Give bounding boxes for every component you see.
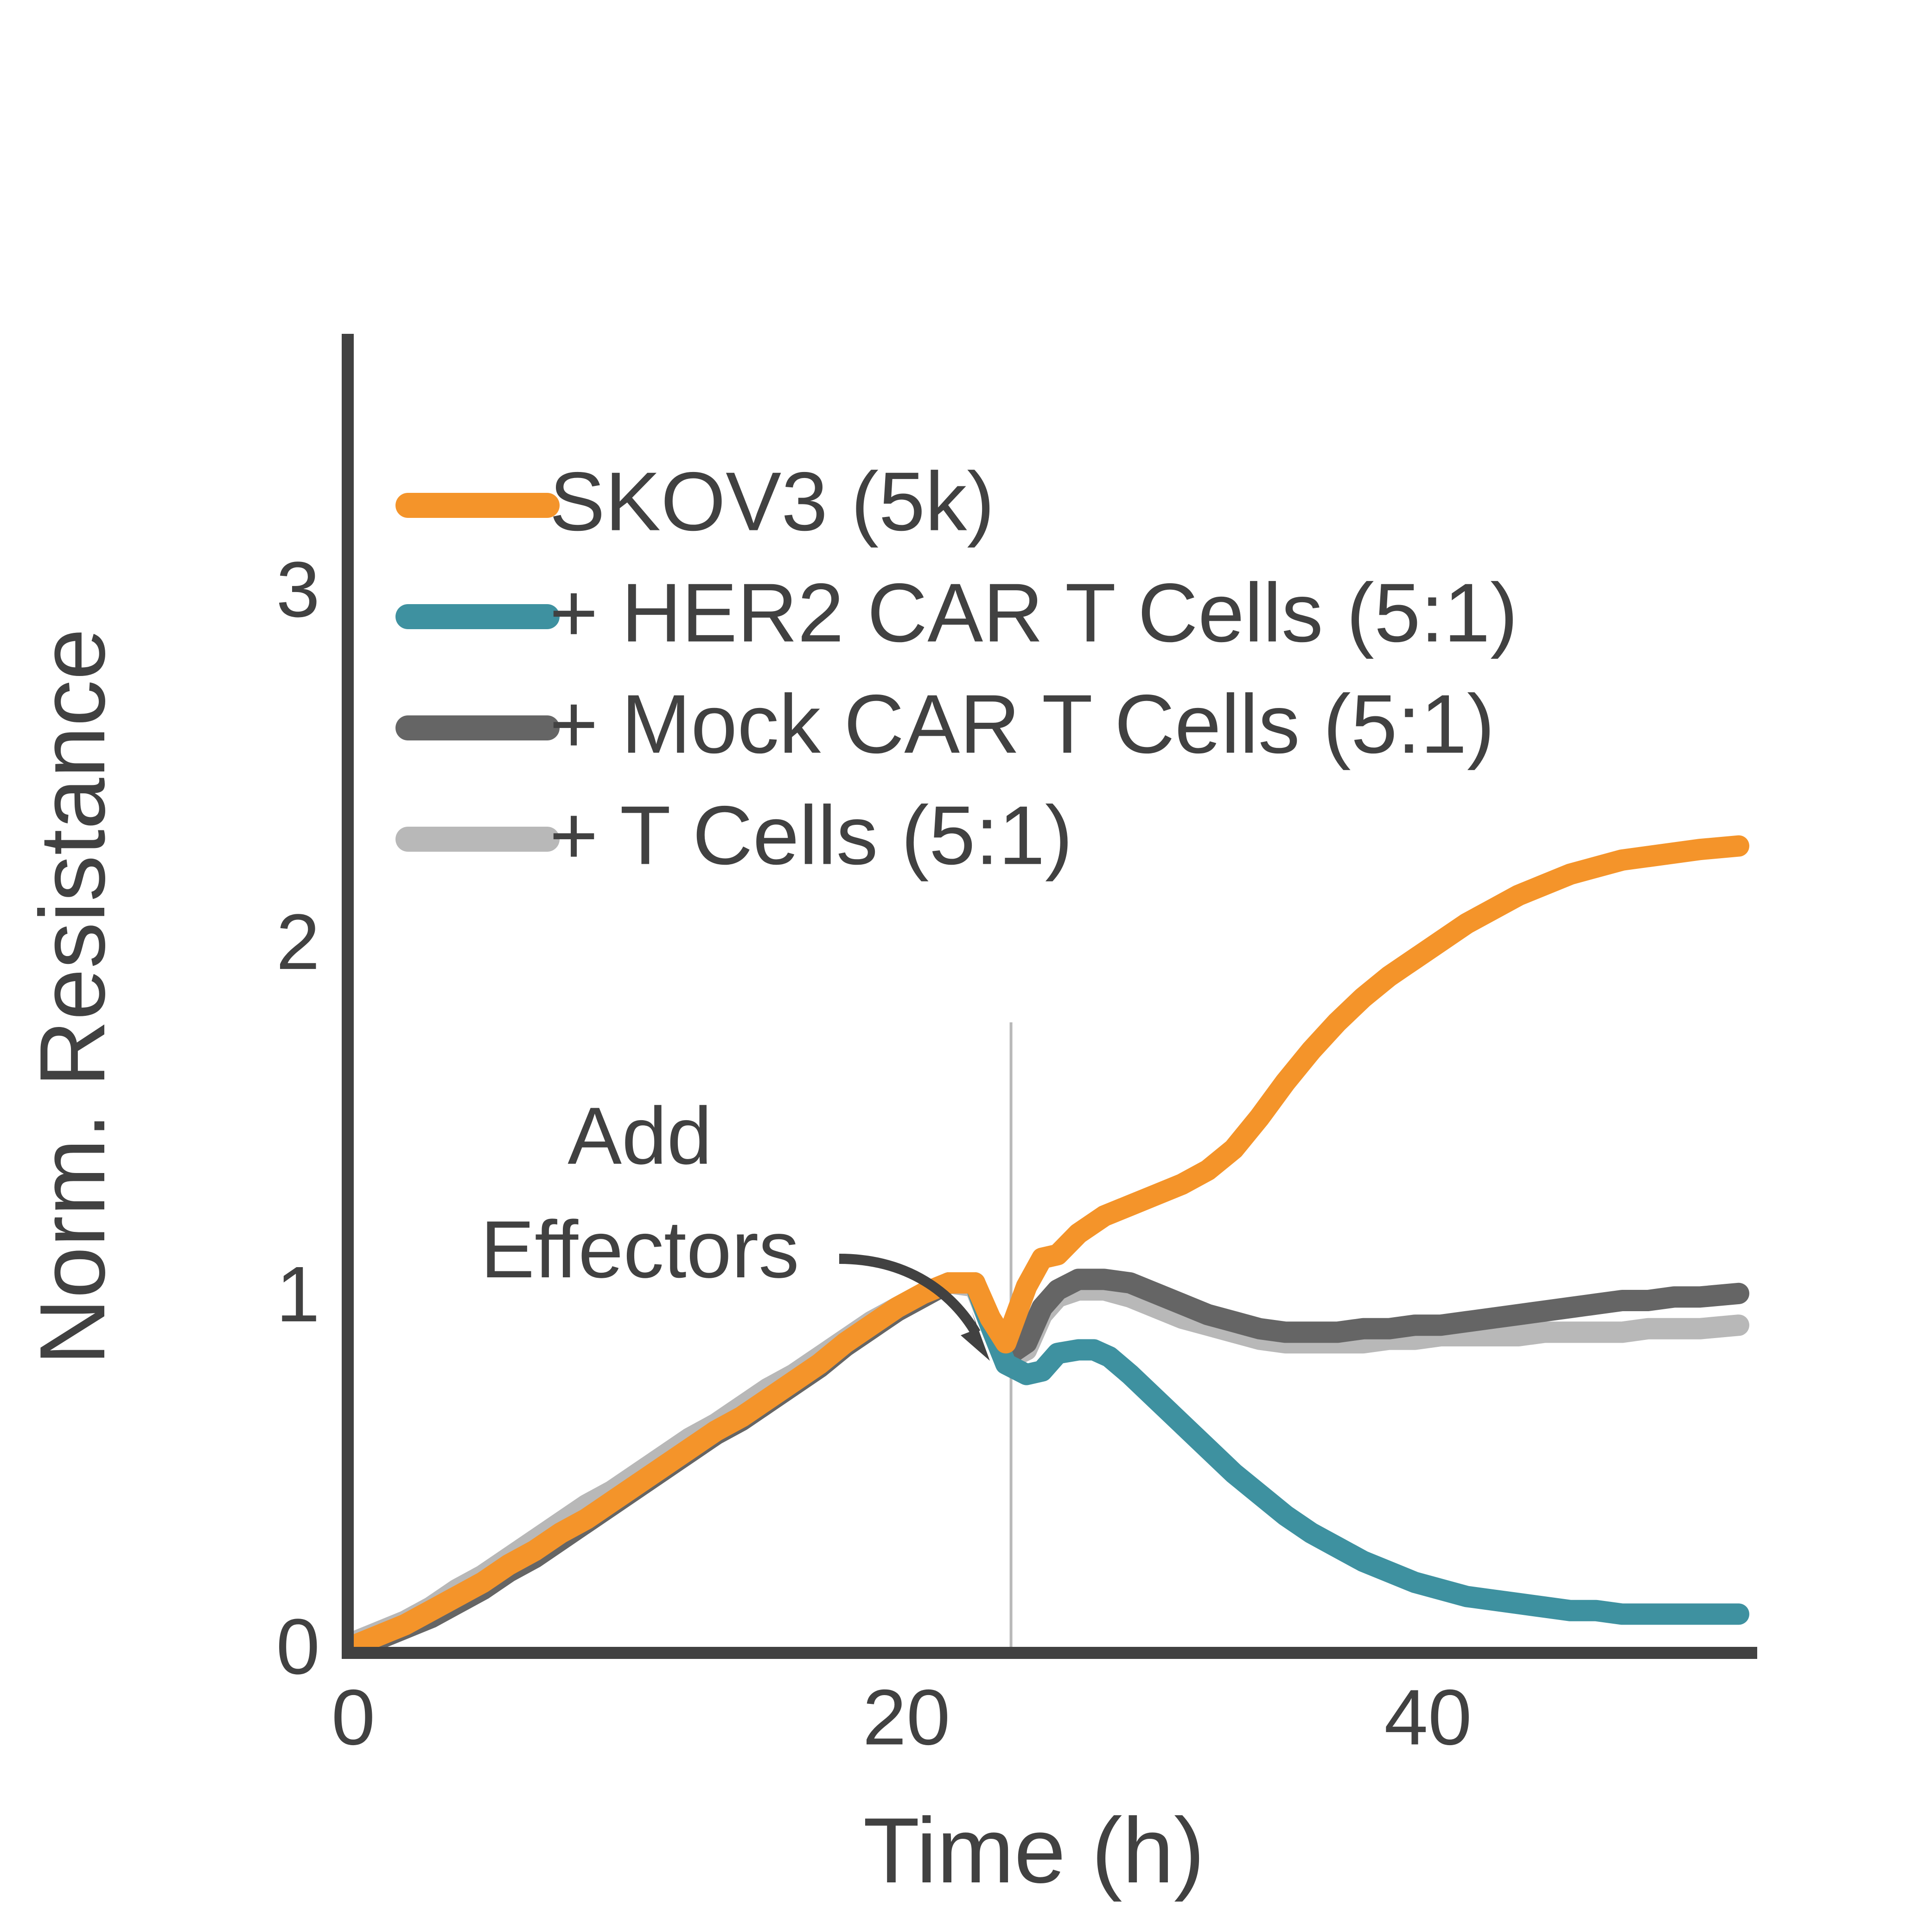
legend-label: + Mock CAR T Cells (5:1) xyxy=(549,678,1495,771)
x-tick-label-20: 20 xyxy=(862,1673,950,1761)
legend: SKOV3 (5k)+ HER2 CAR T Cells (5:1)+ Mock… xyxy=(408,455,1518,882)
x-tick-label-40: 40 xyxy=(1384,1673,1472,1761)
x-tick-label-0: 0 xyxy=(332,1673,376,1761)
line-chart-svg: 3 2 1 0 0 20 40 Time (h) Norm. Resistanc… xyxy=(0,0,1932,1932)
y-tick-label-3: 3 xyxy=(276,546,320,634)
legend-label: SKOV3 (5k) xyxy=(549,455,995,548)
legend-label: + T Cells (5:1) xyxy=(549,789,1073,882)
y-tick-label-1: 1 xyxy=(276,1250,320,1339)
chart-figure: 3 2 1 0 0 20 40 Time (h) Norm. Resistanc… xyxy=(0,0,1932,1932)
x-axis-title: Time (h) xyxy=(863,1799,1205,1902)
series-line xyxy=(353,1283,1739,1642)
y-tick-label-2: 2 xyxy=(276,898,320,986)
y-tick-label-0: 0 xyxy=(276,1603,320,1691)
annotation-line-1: Add xyxy=(567,1091,712,1181)
legend-label: + HER2 CAR T Cells (5:1) xyxy=(549,567,1518,660)
annotation-line-2: Effectors xyxy=(480,1205,799,1295)
y-axis-title: Norm. Resistance xyxy=(21,628,124,1365)
